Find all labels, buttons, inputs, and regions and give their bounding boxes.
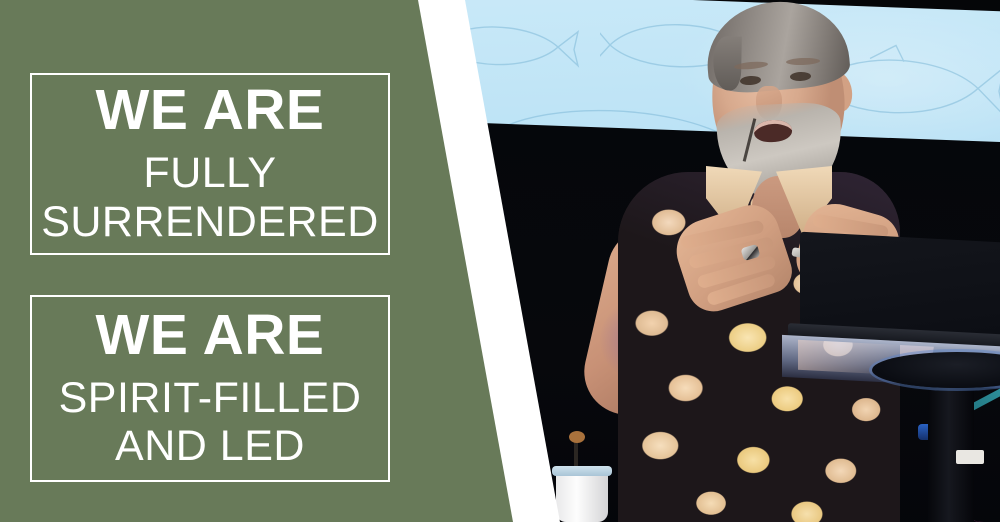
statement-line: FULLY [143,149,276,197]
statement-line: AND LED [115,422,305,470]
statement-box-group: WE ARE FULLY SURRENDERED WE ARE SPIRIT-F… [0,0,420,522]
cup-lid [552,466,612,476]
cup-stirrer [574,440,578,468]
statement-box-spirit-filled-and-led: WE ARE SPIRIT-FILLED AND LED [30,295,390,482]
lectern-column [928,372,974,522]
speaker-hair [702,0,851,96]
statement-line: SURRENDERED [41,198,379,246]
statement-lead: WE ARE [96,82,325,139]
statement-line: SPIRIT-FILLED [59,374,362,422]
equipment-label-tag [956,450,984,464]
white-cup [556,472,608,522]
statement-lead: WE ARE [96,307,325,364]
statement-box-fully-surrendered: WE ARE FULLY SURRENDERED [30,73,390,255]
slide-canvas: WE ARE FULLY SURRENDERED WE ARE SPIRIT-F… [0,0,1000,522]
